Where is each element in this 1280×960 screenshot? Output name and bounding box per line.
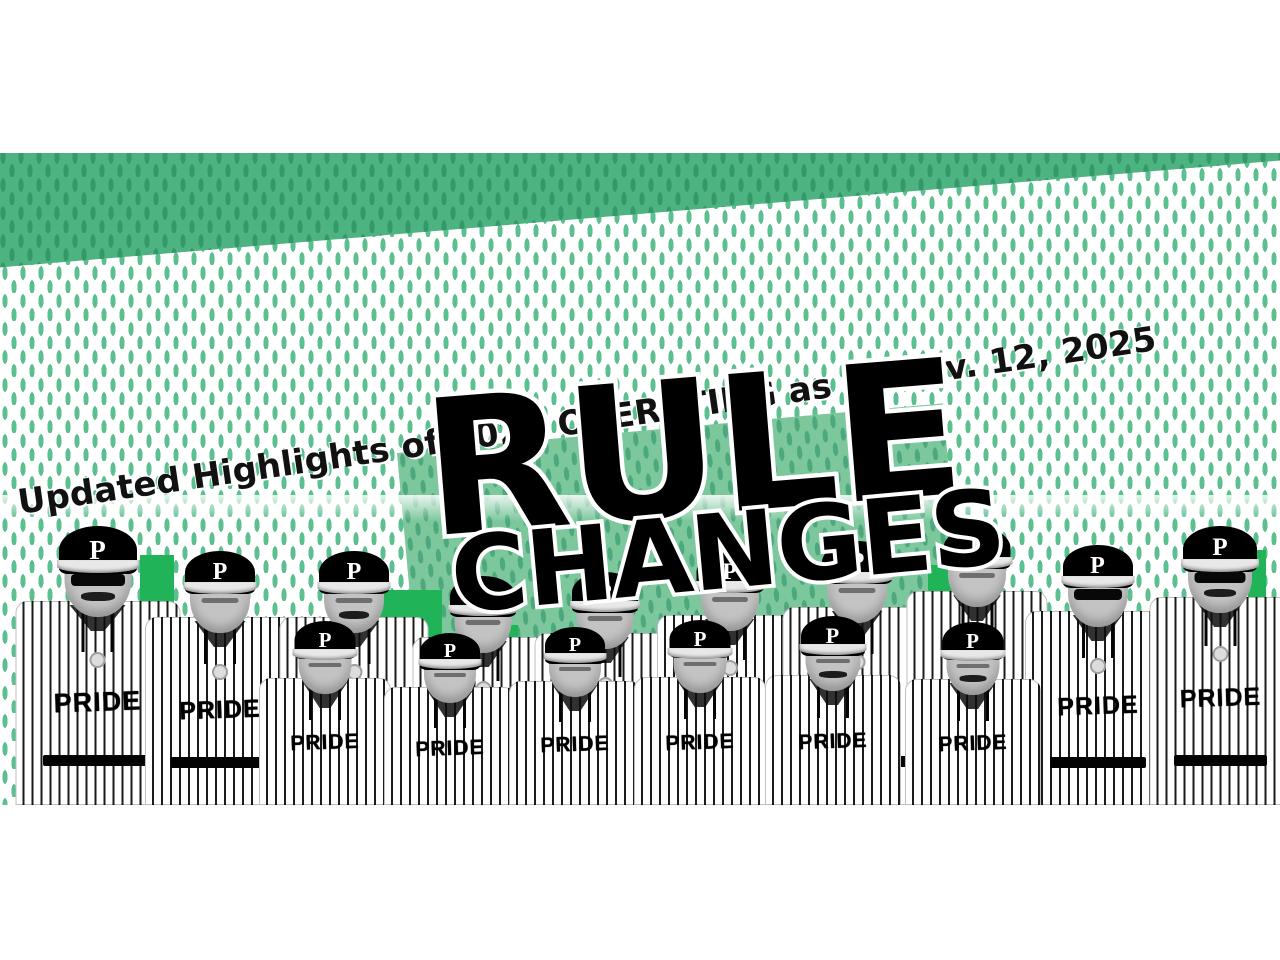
- eyes-shadow: [956, 664, 989, 668]
- eyes-shadow: [839, 588, 876, 593]
- eyes-shadow: [434, 673, 466, 677]
- eyes-shadow: [959, 573, 995, 578]
- cap-brim: [184, 582, 257, 594]
- front-1: PRIDEP: [255, 620, 395, 805]
- jersey-torso: PRIDE: [905, 679, 1041, 805]
- jersey-torso: PRIDE: [634, 677, 766, 805]
- eyes-shadow: [816, 659, 850, 663]
- cap-brim: [821, 572, 894, 584]
- front-6: PRIDEP: [900, 619, 1045, 805]
- front-5: PRIDEP: [760, 615, 905, 805]
- cap-brim: [940, 650, 1005, 661]
- eyes-shadow: [559, 667, 591, 671]
- rule-changes-banner: PRIDEPPRIDEPPRIDEPPRIDEPPRIDEPPRIDEPPRID…: [0, 153, 1280, 805]
- jersey-wordmark: PRIDE: [415, 735, 485, 761]
- medal: [90, 652, 106, 668]
- sunglasses: [1074, 589, 1122, 600]
- eyes-shadow: [588, 616, 623, 621]
- cap-brim: [570, 601, 640, 612]
- medal: [212, 664, 228, 680]
- cap-brim: [318, 582, 391, 594]
- jersey-torso: PRIDE: [384, 687, 516, 805]
- jersey-wordmark: PRIDE: [1056, 691, 1138, 723]
- front-3: PRIDEP: [505, 623, 645, 805]
- jersey-wordmark: PRIDE: [938, 731, 1008, 757]
- jersey-torso: PRIDE: [765, 675, 901, 805]
- eyes-shadow: [202, 598, 239, 603]
- jersey-wordmark: PRIDE: [1179, 683, 1261, 715]
- jersey-torso: PRIDE: [509, 681, 641, 805]
- jersey-wordmark: PRIDE: [290, 730, 360, 756]
- team-photo: PRIDEPPRIDEPPRIDEPPRIDEPPRIDEPPRIDEPPRID…: [0, 495, 1280, 805]
- cap-brim: [1181, 559, 1259, 572]
- coach-right: PRIDEP: [1145, 505, 1280, 805]
- cap-brim: [694, 581, 765, 593]
- jersey-torso: PRIDE: [259, 678, 391, 805]
- jersey-wordmark: PRIDE: [665, 730, 735, 756]
- front-4: PRIDEP: [630, 619, 770, 805]
- sunglasses: [1195, 572, 1246, 583]
- eyes-shadow: [309, 663, 342, 667]
- front-2: PRIDEP: [380, 627, 520, 805]
- cap-brim: [942, 557, 1013, 569]
- jersey-torso: PRIDE: [1150, 597, 1280, 805]
- cap-brim: [57, 560, 139, 573]
- moustache: [1204, 589, 1236, 597]
- cap-brim: [668, 648, 733, 659]
- medal: [1090, 658, 1106, 674]
- moustache: [959, 675, 986, 682]
- cap-brim: [1061, 576, 1134, 588]
- eyes-shadow: [712, 597, 748, 602]
- jersey-wordmark: PRIDE: [798, 728, 868, 754]
- medal: [1212, 646, 1228, 662]
- sunglasses: [71, 574, 125, 586]
- moustache: [819, 671, 847, 678]
- cap-brim: [419, 659, 482, 669]
- belt: [1174, 755, 1267, 766]
- cap-brim: [544, 653, 607, 663]
- jersey-wordmark: PRIDE: [179, 695, 261, 727]
- eyes-shadow: [466, 620, 501, 625]
- cap-brim: [799, 644, 866, 655]
- belt: [43, 755, 152, 766]
- cap-brim: [448, 605, 518, 616]
- moustache: [339, 611, 369, 619]
- eyes-shadow: [684, 662, 717, 666]
- moustache: [81, 592, 115, 601]
- jersey-wordmark: PRIDE: [53, 685, 142, 719]
- eyes-shadow: [336, 598, 373, 603]
- jersey-wordmark: PRIDE: [540, 732, 610, 758]
- cap-brim: [293, 649, 358, 660]
- belt: [1050, 757, 1146, 768]
